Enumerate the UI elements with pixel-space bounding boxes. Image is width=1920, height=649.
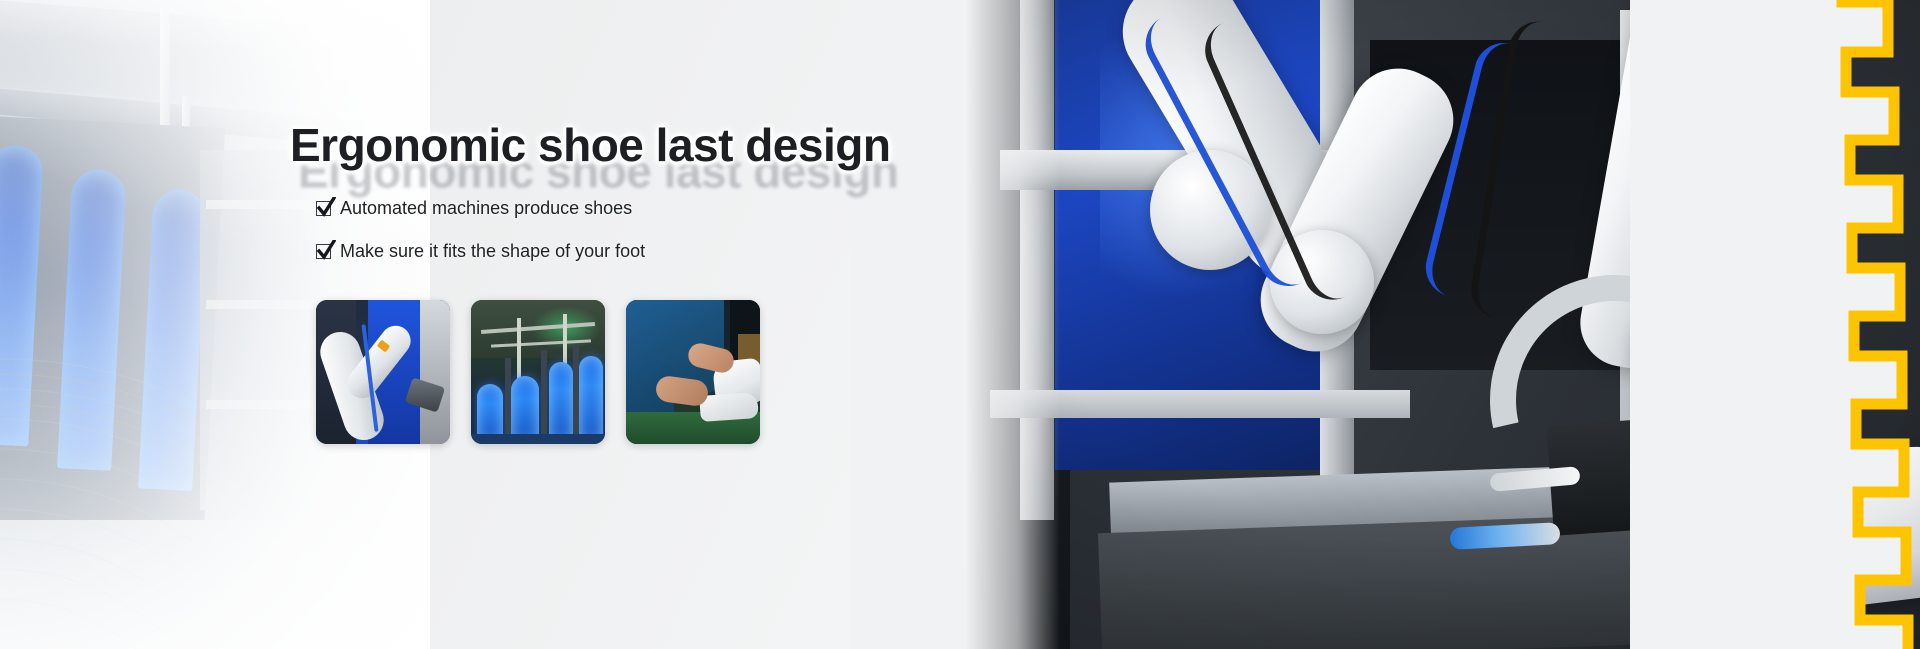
right-robot-photo	[850, 0, 1920, 649]
thumbnail-robot-arm[interactable]	[316, 300, 450, 444]
banner-content: Ergonomic shoe last design Ergonomic sho…	[0, 0, 900, 649]
thumbnail-gallery	[316, 300, 760, 444]
list-item-label: Make sure it fits the shape of your foot	[340, 241, 645, 262]
gear-teeth-divider	[1630, 0, 1920, 649]
thumb-shelf-rack	[420, 300, 450, 444]
list-item: Make sure it fits the shape of your foot	[316, 241, 645, 262]
page-title: Ergonomic shoe last design Ergonomic sho…	[290, 118, 910, 204]
thumb-floor	[471, 434, 605, 444]
thumbnail-blue-machines[interactable]	[471, 300, 605, 444]
checkbox-checked-icon	[316, 244, 331, 259]
thumb-cabinet-frame	[573, 346, 579, 444]
thumb-cabinet-frame	[541, 350, 547, 444]
feature-list: Automated machines produce shoes Make su…	[316, 198, 645, 284]
list-item-label: Automated machines produce shoes	[340, 198, 632, 219]
thumb-pole	[517, 318, 521, 384]
checkbox-checked-icon	[316, 201, 331, 216]
thumb-blue-cabinet	[549, 362, 573, 442]
list-item: Automated machines produce shoes	[316, 198, 645, 219]
thumb-blue-cabinet	[511, 376, 539, 442]
hero-banner: Ergonomic shoe last design Ergonomic sho…	[0, 0, 1920, 649]
thumbnail-worker-shoes[interactable]	[626, 300, 760, 444]
page-title-text: Ergonomic shoe last design	[290, 118, 890, 172]
thumb-sneaker	[699, 392, 759, 422]
thumb-blue-cabinet	[579, 356, 603, 442]
thumb-cabinet-frame	[505, 358, 511, 444]
